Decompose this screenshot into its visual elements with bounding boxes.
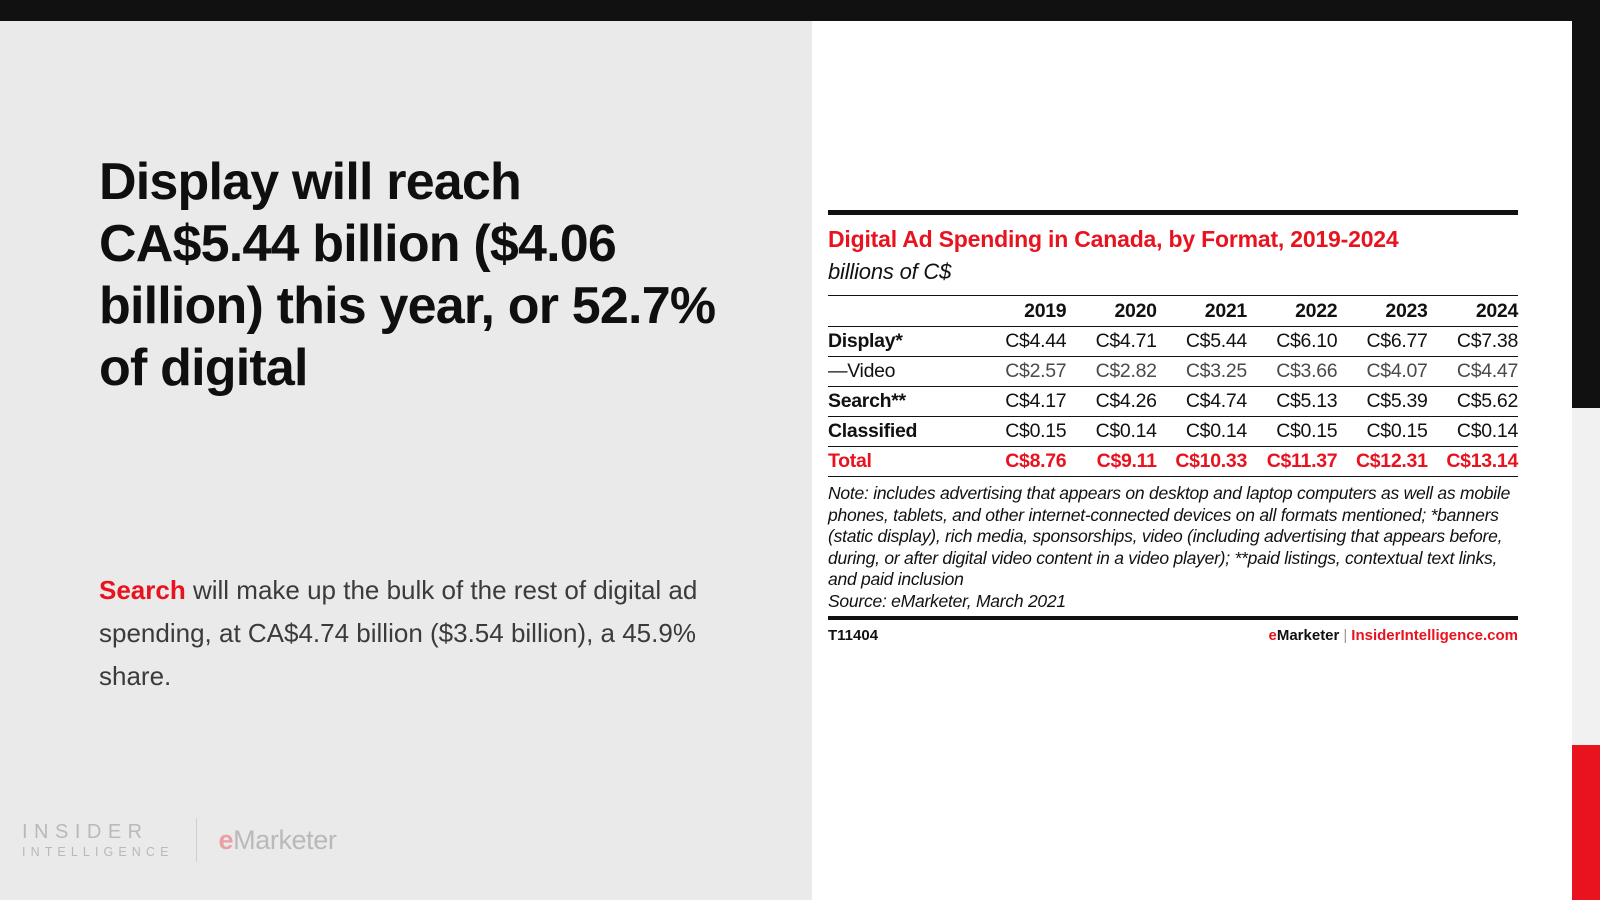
chart-note: Note: includes advertising that appears … [828,483,1518,591]
cell-classified-2019: C$0.15 [976,417,1066,447]
right-edge-strip [1572,0,1600,900]
cell-video-2022: C$3.66 [1247,357,1337,387]
cell-search-2019: C$4.17 [976,387,1066,417]
table-body: Display* C$4.44 C$4.71 C$5.44 C$6.10 C$6… [828,327,1518,477]
row-label-search: Search** [828,387,976,417]
cell-video-2024: C$4.47 [1428,357,1518,387]
cell-search-2020: C$4.26 [1066,387,1156,417]
table-row-search: Search** C$4.17 C$4.26 C$4.74 C$5.13 C$5… [828,387,1518,417]
column-header-2022: 2022 [1247,296,1337,327]
emarketer-logo-rest: Marketer [233,825,336,855]
column-header-2020: 2020 [1066,296,1156,327]
insider-logo-line1: INSIDER [22,821,174,844]
footer-brand-pipe: | [1339,627,1351,644]
cell-video-2019: C$2.57 [976,357,1066,387]
cell-search-2021: C$4.74 [1157,387,1247,417]
body-text: will make up the bulk of the rest of dig… [99,575,697,691]
table-header-row: 2019 2020 2021 2022 2023 2024 [828,296,1518,327]
row-label-classified: Classified [828,417,976,447]
cell-total-2020: C$9.11 [1066,447,1156,477]
table-row-total: Total C$8.76 C$9.11 C$10.33 C$11.37 C$12… [828,447,1518,477]
card-footer: T11404 eMarketer|InsiderIntelligence.com [828,627,1518,644]
edge-strip-gray [1572,408,1600,745]
cell-video-2021: C$3.25 [1157,357,1247,387]
chart-subtitle: billions of C$ [828,259,1518,285]
cell-classified-2023: C$0.15 [1337,417,1427,447]
footer-brand-marketer: Marketer [1277,627,1340,644]
table-row-classified: Classified C$0.15 C$0.14 C$0.14 C$0.15 C… [828,417,1518,447]
cell-total-2019: C$8.76 [976,447,1066,477]
cell-total-2023: C$12.31 [1337,447,1427,477]
cell-classified-2024: C$0.14 [1428,417,1518,447]
edge-strip-red [1572,745,1600,900]
column-header-2019: 2019 [976,296,1066,327]
cell-display-2024: C$7.38 [1428,327,1518,357]
data-table: 2019 2020 2021 2022 2023 2024 Display* C… [828,295,1518,476]
cell-classified-2021: C$0.14 [1157,417,1247,447]
table-row-display: Display* C$4.44 C$4.71 C$5.44 C$6.10 C$6… [828,327,1518,357]
cell-display-2023: C$6.77 [1337,327,1427,357]
card-footer-rule [828,616,1518,620]
chart-id: T11404 [828,627,878,644]
row-label-total: Total [828,447,976,477]
cell-display-2019: C$4.44 [976,327,1066,357]
column-header-2021: 2021 [1157,296,1247,327]
emarketer-logo-e: e [219,825,234,855]
headline: Display will reach CA$5.44 billion ($4.0… [99,151,719,399]
left-content-panel: Display will reach CA$5.44 billion ($4.0… [0,21,812,900]
cell-display-2021: C$5.44 [1157,327,1247,357]
edge-strip-dark [1572,0,1600,408]
cell-search-2023: C$5.39 [1337,387,1427,417]
cell-video-2023: C$4.07 [1337,357,1427,387]
cell-total-2024: C$13.14 [1428,447,1518,477]
cell-total-2021: C$10.33 [1157,447,1247,477]
table-head: 2019 2020 2021 2022 2023 2024 [828,296,1518,327]
column-header-label [828,296,976,327]
row-label-video: —Video [828,357,976,387]
footer-brand-e: e [1268,627,1276,644]
cell-total-2022: C$11.37 [1247,447,1337,477]
top-black-bar [0,0,1600,21]
column-header-2023: 2023 [1337,296,1427,327]
footer-brand: eMarketer|InsiderIntelligence.com [1268,627,1518,644]
brand-logo-lockup: INSIDER INTELLIGENCE eMarketer [22,818,336,862]
cell-display-2020: C$4.71 [1066,327,1156,357]
cell-display-2022: C$6.10 [1247,327,1337,357]
body-keyword: Search [99,575,186,605]
footer-brand-site[interactable]: InsiderIntelligence.com [1351,627,1518,644]
cell-classified-2022: C$0.15 [1247,417,1337,447]
cell-classified-2020: C$0.14 [1066,417,1156,447]
row-label-display: Display* [828,327,976,357]
chart-card: Digital Ad Spending in Canada, by Format… [828,210,1518,644]
insider-logo-line2: INTELLIGENCE [22,844,174,860]
table-bottom-rule [828,476,1518,477]
body-paragraph: Search will make up the bulk of the rest… [99,569,699,698]
table-row-video: —Video C$2.57 C$2.82 C$3.25 C$3.66 C$4.0… [828,357,1518,387]
cell-search-2022: C$5.13 [1247,387,1337,417]
chart-source: Source: eMarketer, March 2021 [828,591,1518,613]
card-top-rule [828,210,1518,215]
column-header-2024: 2024 [1428,296,1518,327]
slide-root: Display will reach CA$5.44 billion ($4.0… [0,0,1600,900]
emarketer-logo: eMarketer [197,825,337,856]
cell-video-2020: C$2.82 [1066,357,1156,387]
chart-title: Digital Ad Spending in Canada, by Format… [828,225,1518,253]
cell-search-2024: C$5.62 [1428,387,1518,417]
insider-intelligence-logo: INSIDER INTELLIGENCE [22,821,196,860]
